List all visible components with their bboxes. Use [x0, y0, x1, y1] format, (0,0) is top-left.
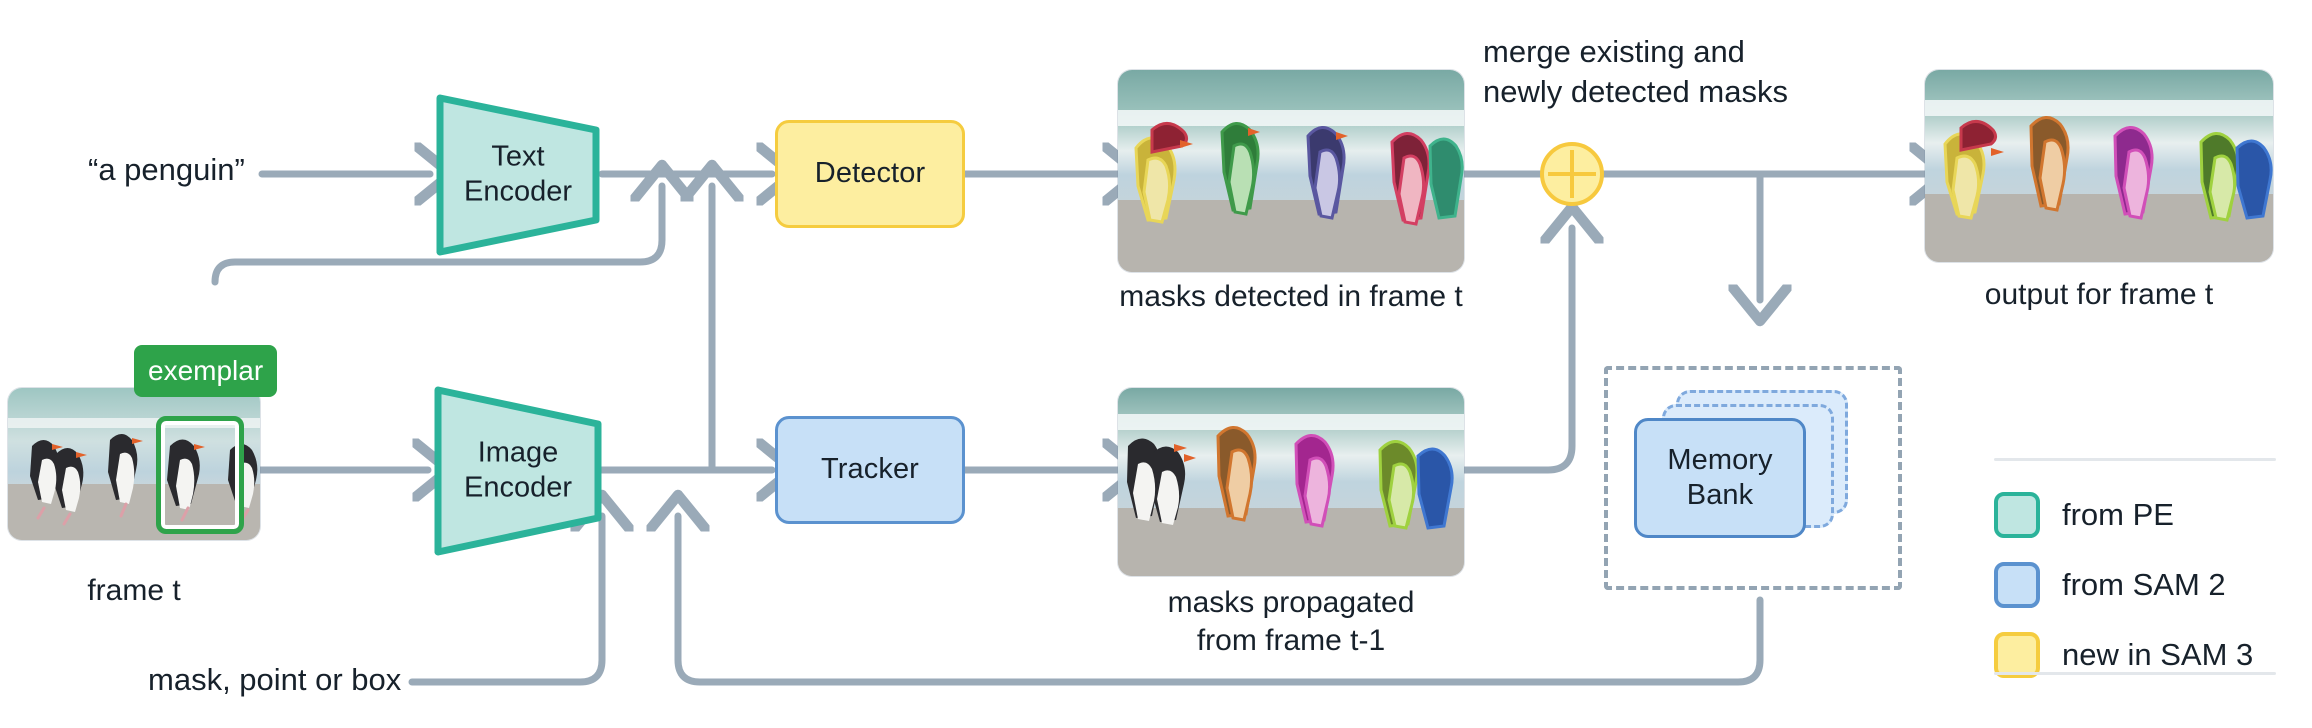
masks-propagated-caption-line2: from frame t-1 — [1197, 624, 1385, 657]
exemplar-badge: exemplar — [134, 345, 277, 397]
exemplar-bbox — [156, 416, 244, 534]
text-encoder-node[interactable]: TextEncoder — [430, 84, 606, 266]
masks-detected-art — [1118, 70, 1464, 272]
legend-divider-top — [1994, 458, 2276, 461]
memory-bank-node[interactable]: MemoryBank — [1634, 418, 1806, 538]
text-prompt-label: “a penguin” — [88, 152, 245, 188]
legend-label-new-in-sam3: new in SAM 3 — [2062, 637, 2253, 673]
frame-t-photo — [8, 388, 260, 540]
memory-bank-label-line2: Bank — [1687, 479, 1754, 511]
frame-t-caption: frame t — [8, 572, 260, 610]
legend-item-from-pe: from PE — [1994, 492, 2174, 538]
merge-note: merge existing andnewly detected masks — [1483, 32, 1788, 113]
merge-note-line1: merge existing and — [1483, 34, 1745, 69]
legend-swatch-from-sam2 — [1994, 562, 2040, 608]
legend-label-from-sam2: from SAM 2 — [2062, 567, 2226, 603]
memory-bank-label: MemoryBank — [1667, 443, 1772, 514]
legend-item-from-sam2: from SAM 2 — [1994, 562, 2226, 608]
masks-detected-caption: masks detected in frame t — [1050, 278, 1532, 316]
detector-node[interactable]: Detector — [775, 120, 965, 228]
diagram-canvas: “a penguin” TextEncoder ImageEncoder Det… — [0, 0, 2312, 728]
masks-detected-photo — [1118, 70, 1464, 272]
legend-divider-bottom — [1994, 672, 2276, 675]
visual-prompt-label: mask, point or box — [148, 662, 401, 698]
memory-bank-label-line1: Memory — [1667, 444, 1772, 476]
legend-label-from-pe: from PE — [2062, 497, 2174, 533]
masks-propagated-caption-line1: masks propagated — [1168, 586, 1415, 619]
masks-propagated-photo — [1118, 388, 1464, 576]
output-frame-t-photo — [1925, 70, 2273, 262]
output-caption: output for frame t — [1925, 276, 2273, 314]
memory-bank-group: MemoryBank — [1604, 366, 1894, 582]
tracker-label: Tracker — [821, 452, 919, 487]
detector-label: Detector — [815, 156, 925, 191]
text-encoder-shape — [430, 84, 606, 266]
legend-swatch-from-pe — [1994, 492, 2040, 538]
tracker-node[interactable]: Tracker — [775, 416, 965, 524]
legend: from PE from SAM 2 new in SAM 3 — [1994, 458, 2294, 672]
masks-propagated-art — [1118, 388, 1464, 576]
merge-note-line2: newly detected masks — [1483, 74, 1788, 109]
image-encoder-node[interactable]: ImageEncoder — [428, 378, 608, 564]
wire-propagated-to-merge — [1463, 228, 1572, 470]
output-frame-t-art — [1925, 70, 2273, 262]
masks-propagated-caption: masks propagated from frame t-1 — [1050, 584, 1532, 659]
image-encoder-shape — [428, 378, 608, 564]
merge-plus-icon[interactable] — [1540, 142, 1604, 206]
